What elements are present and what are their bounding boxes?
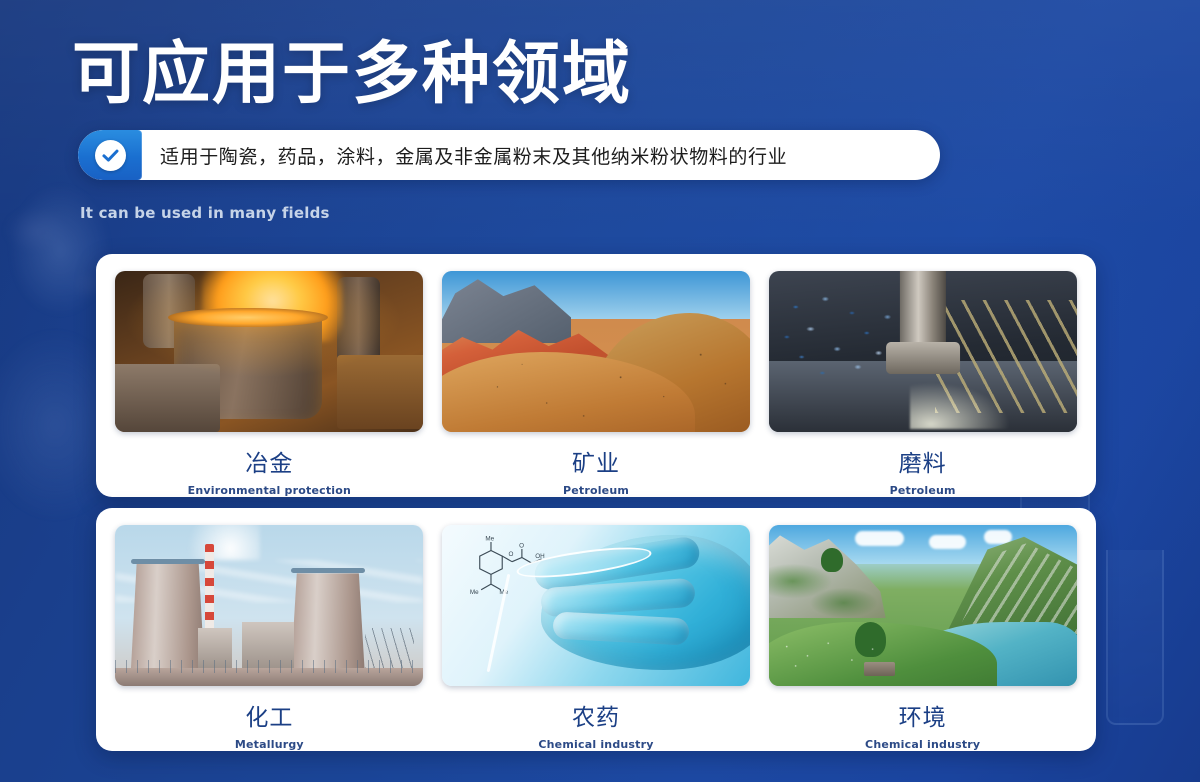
check-circle-icon xyxy=(95,140,126,171)
card-subtitle: Petroleum xyxy=(563,484,629,497)
tagline-text: 适用于陶瓷，药品，涂料，金属及非金属粉末及其他纳米粉状物料的行业 xyxy=(142,130,940,180)
subtitle-english: It can be used in many fields xyxy=(80,204,330,222)
card-title: 冶金 xyxy=(245,444,293,478)
card-title: 磨料 xyxy=(899,444,947,478)
card-image-lab-glove: Me O O OH Me Me xyxy=(442,525,750,686)
card-image-cnc xyxy=(769,271,1077,432)
card-metallurgy[interactable]: 冶金 Environmental protection xyxy=(110,271,429,497)
card-title: 环境 xyxy=(899,698,947,732)
svg-text:O: O xyxy=(519,542,524,549)
card-chemical[interactable]: 化工 Metallurgy xyxy=(110,525,429,751)
card-title: 农药 xyxy=(572,698,620,732)
page-title: 可应用于多种领域 xyxy=(72,36,632,112)
card-image-power-plant xyxy=(115,525,423,686)
card-subtitle: Petroleum xyxy=(890,484,956,497)
card-subtitle: Chemical industry xyxy=(865,738,980,751)
card-image-foundry xyxy=(115,271,423,432)
svg-text:Me: Me xyxy=(486,535,495,542)
card-subtitle: Metallurgy xyxy=(235,738,304,751)
svg-text:Me: Me xyxy=(470,589,479,596)
card-title: 矿业 xyxy=(572,444,620,478)
card-subtitle: Chemical industry xyxy=(538,738,653,751)
card-image-mining xyxy=(442,271,750,432)
svg-text:O: O xyxy=(509,551,514,558)
card-panel-row-2: 化工 Metallurgy xyxy=(96,508,1096,751)
tagline-bar: 适用于陶瓷，药品，涂料，金属及非金属粉末及其他纳米粉状物料的行业 xyxy=(78,130,940,180)
card-row: 冶金 Environmental protection 矿业 Petroleum xyxy=(96,254,1096,497)
card-title: 化工 xyxy=(245,698,293,732)
card-subtitle: Environmental protection xyxy=(188,484,351,497)
card-abrasive[interactable]: 磨料 Petroleum xyxy=(763,271,1082,497)
card-row: 化工 Metallurgy xyxy=(96,508,1096,751)
card-mining[interactable]: 矿业 Petroleum xyxy=(437,271,756,497)
card-panel-row-1: 冶金 Environmental protection 矿业 Petroleum xyxy=(96,254,1096,497)
card-pesticide[interactable]: Me O O OH Me Me xyxy=(437,525,756,751)
tagline-icon-block xyxy=(78,130,142,180)
card-image-valley xyxy=(769,525,1077,686)
card-environment[interactable]: 环境 Chemical industry xyxy=(763,525,1082,751)
